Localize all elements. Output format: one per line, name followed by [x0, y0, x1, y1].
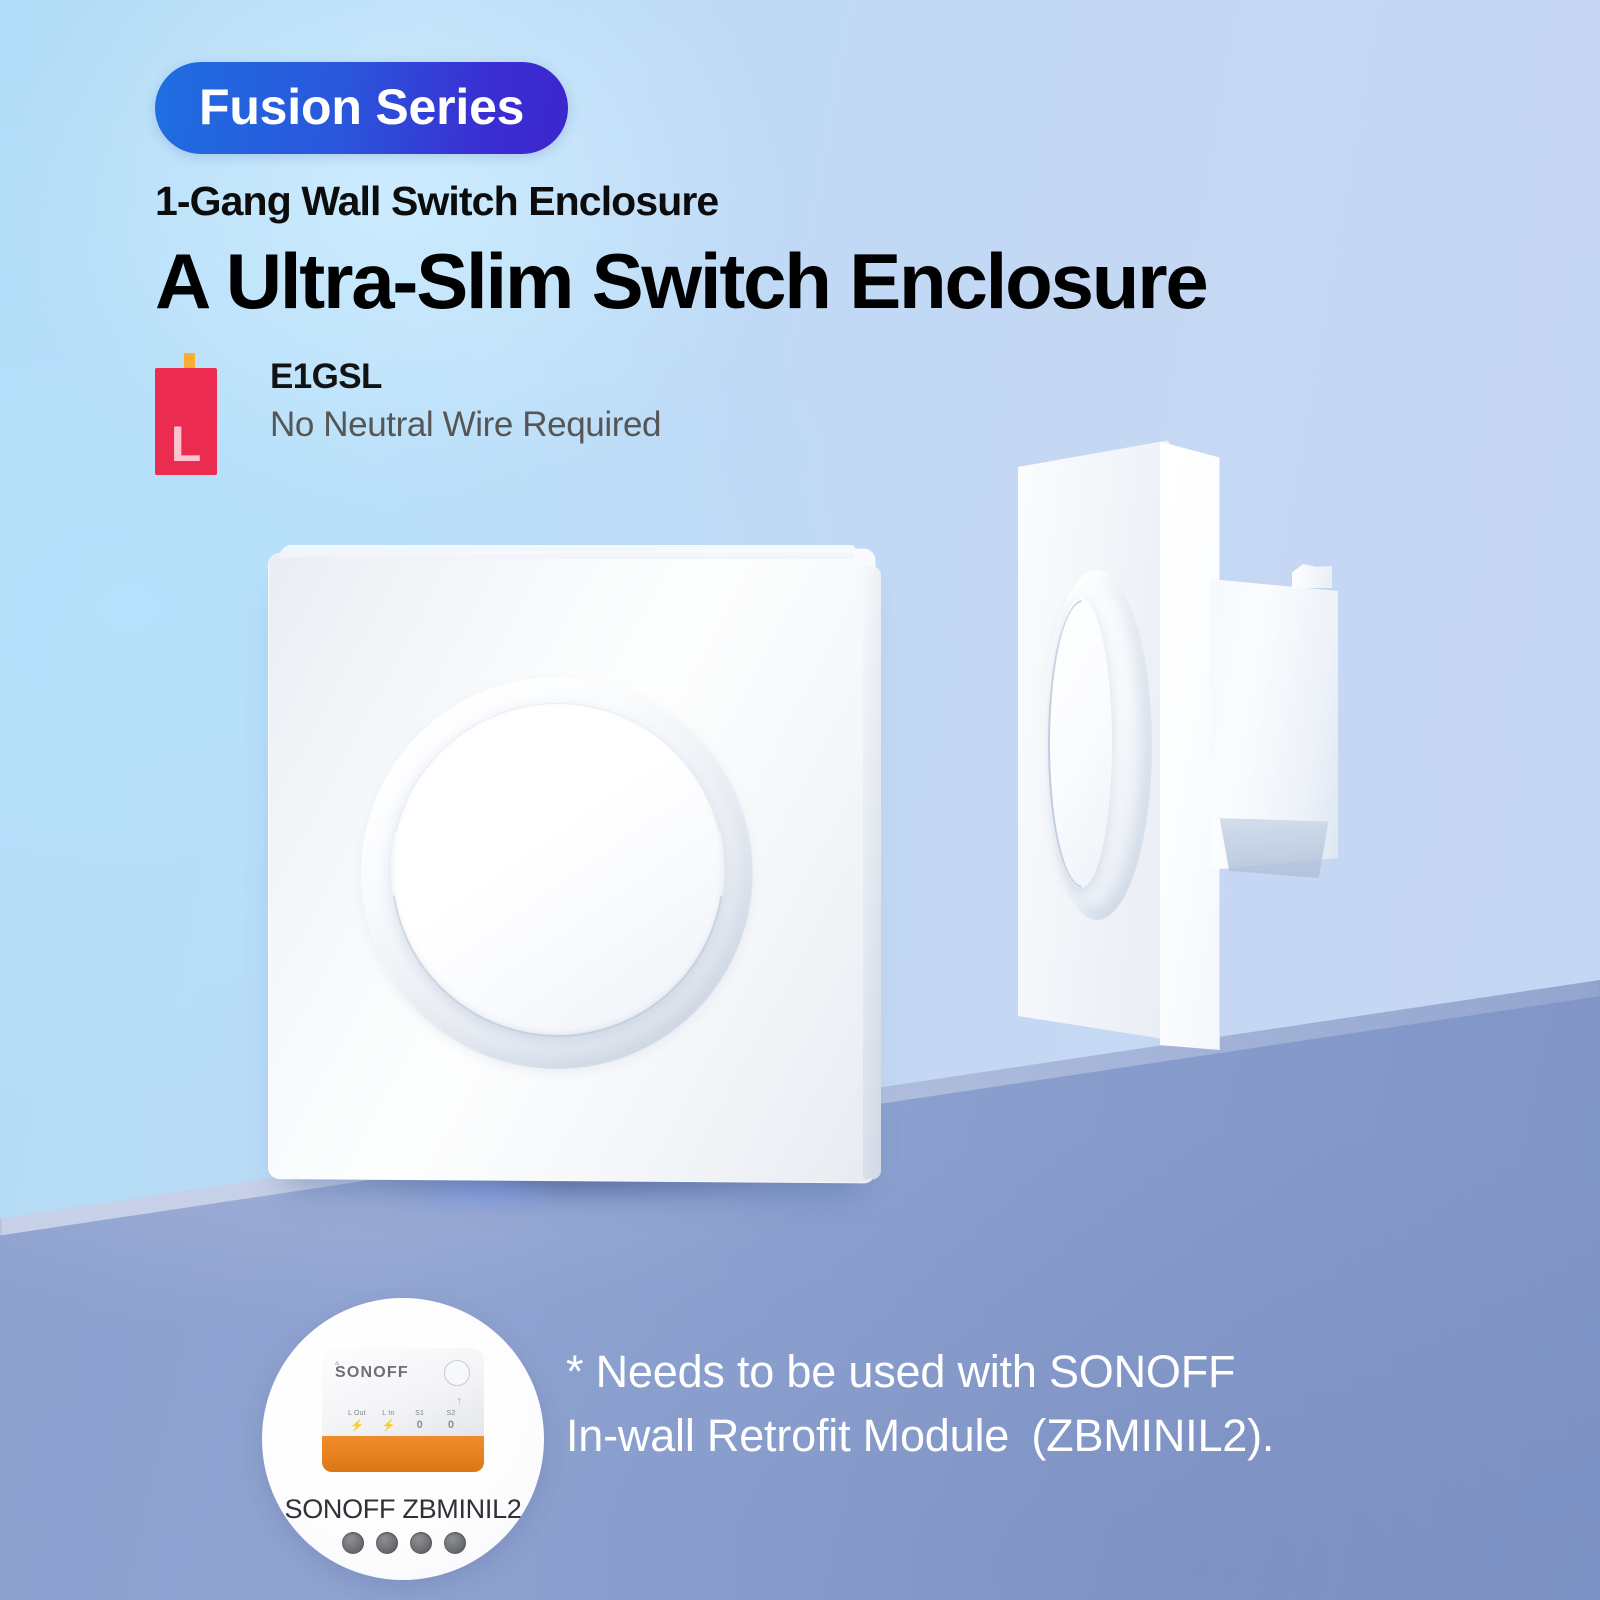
model-row: L E1GSL No Neutral Wire Required: [155, 353, 1495, 475]
module-terminal-screws: [342, 1532, 466, 1554]
terminal-label-l-out: L Out: [342, 1410, 372, 1417]
module-brand-logo: SONOFF: [335, 1365, 409, 1381]
terminal-screw-2: [376, 1532, 398, 1554]
terminal-label-l-in: L In: [373, 1410, 403, 1417]
product-banner: Fusion Series 1-Gang Wall Switch Enclosu…: [0, 0, 1600, 1600]
module-lower-shell: [322, 1436, 484, 1472]
headline-zone: Fusion Series 1-Gang Wall Switch Enclosu…: [155, 62, 1495, 475]
model-name: E1GSL: [270, 357, 661, 396]
terminal-symbol-l-out: ⚡: [342, 1419, 372, 1432]
model-text-block: E1GSL No Neutral Wire Required: [270, 353, 661, 444]
terminal-label-s2: S2: [436, 1410, 466, 1417]
compatibility-note: * Needs to be used with SONOFF In-wall R…: [566, 1340, 1466, 1468]
page-title: A Ultra-Slim Switch Enclosure: [155, 241, 1495, 323]
module-upper-shell: ▵ SONOFF ↑ L Out L In S1 S2 ⚡ ⚡ 0 0: [322, 1348, 484, 1440]
front-switch-top-edge: [278, 545, 859, 559]
front-switch-right-edge: [863, 566, 881, 1180]
terminal-symbol-l-in: ⚡: [373, 1419, 403, 1432]
module-terminal-labels: L Out L In S1 S2: [342, 1410, 466, 1417]
side-switch-back-box-underside: [1215, 818, 1333, 878]
side-switch-back-box-clip: [1292, 564, 1332, 588]
side-switch-product: [1010, 430, 1360, 1080]
series-badge: Fusion Series: [155, 62, 568, 154]
live-wire-badge-letter: L: [155, 419, 217, 469]
antenna-icon: ↑: [457, 1396, 463, 1407]
module-terminal-symbols: ⚡ ⚡ 0 0: [342, 1419, 466, 1432]
compatibility-note-line-1: * Needs to be used with SONOFF: [566, 1340, 1466, 1404]
terminal-symbol-s2: 0: [436, 1419, 466, 1432]
compatibility-note-line-2: In-wall Retrofit Module (ZBMINIL2).: [566, 1404, 1466, 1468]
terminal-label-s1: S1: [405, 1410, 435, 1417]
module-pair-button: [444, 1360, 470, 1386]
terminal-screw-1: [342, 1532, 364, 1554]
companion-module-badge: ▵ SONOFF ↑ L Out L In S1 S2 ⚡ ⚡ 0 0: [262, 1298, 544, 1580]
product-subtitle: 1-Gang Wall Switch Enclosure: [155, 180, 1495, 223]
live-wire-badge-body: L: [155, 368, 217, 475]
terminal-screw-4: [444, 1532, 466, 1554]
terminal-symbol-s1: 0: [405, 1419, 435, 1432]
front-switch-button[interactable]: [391, 702, 724, 1037]
live-wire-badge: L: [155, 353, 217, 475]
model-description: No Neutral Wire Required: [270, 405, 661, 444]
terminal-screw-3: [410, 1532, 432, 1554]
zbminil2-module-image: ▵ SONOFF ↑ L Out L In S1 S2 ⚡ ⚡ 0 0: [322, 1348, 484, 1472]
front-switch-product: [268, 553, 868, 1179]
companion-module-caption: SONOFF ZBMINIL2: [262, 1494, 544, 1525]
